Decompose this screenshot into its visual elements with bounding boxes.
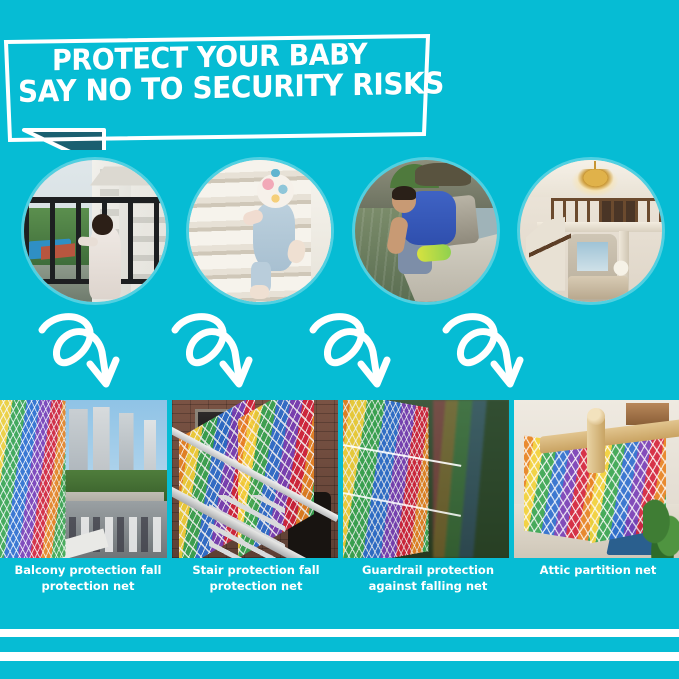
product-graphic-canvas: PROTECT YOUR BABY SAY NO TO SECURITY RIS… [0, 0, 679, 679]
curly-arrow-down-icon-3 [307, 312, 403, 394]
caption-balcony-line-1: Balcony protection fall [15, 563, 162, 577]
caption-stair-net: Stair protection fall protection net [176, 563, 336, 594]
problem-photo-baby-climbing-stairs [189, 160, 331, 302]
caption-row: Balcony protection fall protection net S… [0, 563, 679, 611]
arrow-row [0, 312, 679, 394]
product-photo-stair-net [172, 400, 338, 558]
caption-attic-line-1: Attic partition net [540, 563, 657, 577]
banner-text-block: PROTECT YOUR BABY SAY NO TO SECURITY RIS… [18, 38, 390, 109]
bottom-stripe-1 [0, 629, 679, 637]
caption-balcony-line-2: protection net [42, 579, 135, 593]
headline-banner: PROTECT YOUR BABY SAY NO TO SECURITY RIS… [0, 30, 440, 150]
caption-guardrail-line-2: against falling net [369, 579, 488, 593]
problem-photo-indoor-stair-balcony [520, 160, 662, 302]
curly-arrow-down-icon-2 [169, 312, 265, 394]
caption-attic-net: Attic partition net [518, 563, 678, 579]
caption-guardrail-net: Guardrail protection against falling net [348, 563, 508, 594]
product-photo-guardrail-net [343, 400, 509, 558]
caption-stair-line-2: protection net [210, 579, 303, 593]
product-photo-row [0, 400, 679, 558]
bottom-stripe-2 [0, 652, 679, 661]
product-photo-balcony-net [0, 400, 167, 558]
problem-photo-boy-crouching-by-water [355, 160, 497, 302]
headline-line-2: SAY NO TO SECURITY RISKS [18, 69, 390, 109]
caption-guardrail-line-1: Guardrail protection [362, 563, 494, 577]
problem-photo-row [0, 160, 679, 306]
curly-arrow-down-icon-4 [440, 312, 536, 394]
product-photo-attic-net [514, 400, 679, 558]
caption-balcony-net: Balcony protection fall protection net [8, 563, 168, 594]
curly-arrow-down-icon-1 [36, 312, 132, 394]
caption-stair-line-1: Stair protection fall [192, 563, 319, 577]
problem-photo-toddler-at-balcony-railing [24, 160, 166, 302]
